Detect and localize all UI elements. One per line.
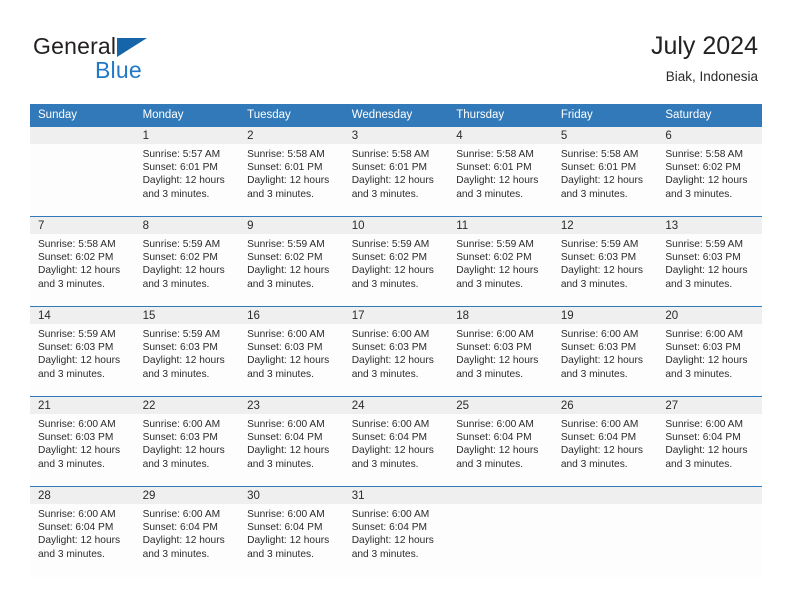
triangle-icon (117, 38, 147, 57)
day-number: 10 (344, 217, 449, 234)
week-row: 14Sunrise: 5:59 AMSunset: 6:03 PMDayligh… (30, 307, 762, 397)
sunrise-text: Sunrise: 5:58 AM (456, 148, 547, 161)
day-details: Sunrise: 6:00 AMSunset: 6:04 PMDaylight:… (344, 504, 449, 561)
day-number: 13 (657, 217, 762, 234)
day-number: 17 (344, 307, 449, 324)
daylight-text: Daylight: 12 hours (143, 444, 234, 457)
day-cell[interactable]: 25Sunrise: 6:00 AMSunset: 6:04 PMDayligh… (448, 397, 553, 487)
daylight-text: Daylight: 12 hours (561, 174, 652, 187)
day-details: Sunrise: 5:58 AMSunset: 6:02 PMDaylight:… (30, 234, 135, 291)
day-number: 7 (30, 217, 135, 234)
day-details: Sunrise: 5:59 AMSunset: 6:03 PMDaylight:… (553, 234, 658, 291)
day-number: 28 (30, 487, 135, 504)
sunset-text: Sunset: 6:03 PM (247, 341, 338, 354)
day-cell[interactable]: 14Sunrise: 5:59 AMSunset: 6:03 PMDayligh… (30, 307, 135, 397)
sunset-text: Sunset: 6:03 PM (561, 251, 652, 264)
daylight-text: and 3 minutes. (352, 278, 443, 291)
day-number: 29 (135, 487, 240, 504)
logo-word-blue: Blue (95, 57, 142, 84)
daylight-text: Daylight: 12 hours (247, 444, 338, 457)
day-number (553, 487, 658, 504)
day-details: Sunrise: 5:59 AMSunset: 6:03 PMDaylight:… (657, 234, 762, 291)
day-details: Sunrise: 6:00 AMSunset: 6:04 PMDaylight:… (30, 504, 135, 561)
sunrise-text: Sunrise: 5:59 AM (247, 238, 338, 251)
daylight-text: Daylight: 12 hours (352, 534, 443, 547)
sunrise-text: Sunrise: 5:58 AM (352, 148, 443, 161)
sunrise-text: Sunrise: 6:00 AM (352, 328, 443, 341)
daylight-text: Daylight: 12 hours (38, 444, 129, 457)
daylight-text: Daylight: 12 hours (456, 174, 547, 187)
daylight-text: and 3 minutes. (561, 368, 652, 381)
sunset-text: Sunset: 6:04 PM (38, 521, 129, 534)
sunrise-text: Sunrise: 5:58 AM (665, 148, 756, 161)
day-cell[interactable]: 13Sunrise: 5:59 AMSunset: 6:03 PMDayligh… (657, 217, 762, 307)
daylight-text: Daylight: 12 hours (561, 354, 652, 367)
sunrise-text: Sunrise: 5:59 AM (143, 328, 234, 341)
day-cell[interactable]: 29Sunrise: 6:00 AMSunset: 6:04 PMDayligh… (135, 487, 240, 577)
location-subtitle: Biak, Indonesia (651, 67, 758, 87)
sunrise-text: Sunrise: 6:00 AM (247, 328, 338, 341)
day-cell[interactable]: 19Sunrise: 6:00 AMSunset: 6:03 PMDayligh… (553, 307, 658, 397)
day-details: Sunrise: 6:00 AMSunset: 6:04 PMDaylight:… (239, 414, 344, 471)
weekday-header-wednesday: Wednesday (344, 104, 449, 127)
daylight-text: Daylight: 12 hours (247, 264, 338, 277)
day-cell[interactable]: 2Sunrise: 5:58 AMSunset: 6:01 PMDaylight… (239, 127, 344, 217)
daylight-text: and 3 minutes. (247, 458, 338, 471)
daylight-text: Daylight: 12 hours (665, 174, 756, 187)
day-details: Sunrise: 5:59 AMSunset: 6:02 PMDaylight:… (344, 234, 449, 291)
weekday-header-tuesday: Tuesday (239, 104, 344, 127)
sunset-text: Sunset: 6:02 PM (38, 251, 129, 264)
day-cell[interactable]: 7Sunrise: 5:58 AMSunset: 6:02 PMDaylight… (30, 217, 135, 307)
logo-word-general: General (33, 33, 116, 59)
daylight-text: Daylight: 12 hours (456, 354, 547, 367)
sunrise-text: Sunrise: 6:00 AM (352, 508, 443, 521)
sunrise-text: Sunrise: 5:58 AM (247, 148, 338, 161)
calendar-header-row: SundayMondayTuesdayWednesdayThursdayFrid… (30, 104, 762, 127)
daylight-text: and 3 minutes. (665, 368, 756, 381)
page-title: July 2024 (651, 30, 758, 62)
sunrise-text: Sunrise: 5:59 AM (38, 328, 129, 341)
day-cell[interactable]: 11Sunrise: 5:59 AMSunset: 6:02 PMDayligh… (448, 217, 553, 307)
calendar-table: SundayMondayTuesdayWednesdayThursdayFrid… (30, 104, 762, 577)
sunset-text: Sunset: 6:03 PM (143, 431, 234, 444)
sunset-text: Sunset: 6:04 PM (561, 431, 652, 444)
calendar-body: 1Sunrise: 5:57 AMSunset: 6:01 PMDaylight… (30, 127, 762, 577)
sunrise-text: Sunrise: 6:00 AM (247, 418, 338, 431)
daylight-text: Daylight: 12 hours (38, 534, 129, 547)
sunrise-text: Sunrise: 5:57 AM (143, 148, 234, 161)
calendar-page: General Blue July 2024 Biak, Indonesia S… (0, 0, 792, 612)
daylight-text: and 3 minutes. (247, 188, 338, 201)
sunrise-text: Sunrise: 5:59 AM (352, 238, 443, 251)
sunset-text: Sunset: 6:03 PM (143, 341, 234, 354)
sunrise-text: Sunrise: 6:00 AM (561, 328, 652, 341)
week-row: 28Sunrise: 6:00 AMSunset: 6:04 PMDayligh… (30, 487, 762, 577)
day-details: Sunrise: 5:58 AMSunset: 6:01 PMDaylight:… (553, 144, 658, 201)
sunrise-text: Sunrise: 5:59 AM (456, 238, 547, 251)
day-details: Sunrise: 6:00 AMSunset: 6:04 PMDaylight:… (553, 414, 658, 471)
sunrise-text: Sunrise: 6:00 AM (38, 418, 129, 431)
page-header: General Blue July 2024 Biak, Indonesia (0, 0, 792, 104)
day-details: Sunrise: 6:00 AMSunset: 6:04 PMDaylight:… (239, 504, 344, 561)
weekday-header-friday: Friday (553, 104, 658, 127)
sunset-text: Sunset: 6:03 PM (456, 341, 547, 354)
day-number: 24 (344, 397, 449, 414)
weekday-labels: SundayMondayTuesdayWednesdayThursdayFrid… (30, 104, 762, 127)
day-cell-empty (657, 487, 762, 577)
day-number: 25 (448, 397, 553, 414)
sunset-text: Sunset: 6:02 PM (143, 251, 234, 264)
daylight-text: and 3 minutes. (561, 278, 652, 291)
day-cell-empty (448, 487, 553, 577)
day-details: Sunrise: 6:00 AMSunset: 6:04 PMDaylight:… (135, 504, 240, 561)
sunrise-text: Sunrise: 6:00 AM (352, 418, 443, 431)
daylight-text: and 3 minutes. (38, 548, 129, 561)
daylight-text: and 3 minutes. (352, 188, 443, 201)
sunset-text: Sunset: 6:02 PM (247, 251, 338, 264)
daylight-text: and 3 minutes. (665, 278, 756, 291)
day-details: Sunrise: 5:57 AMSunset: 6:01 PMDaylight:… (135, 144, 240, 201)
sunset-text: Sunset: 6:01 PM (561, 161, 652, 174)
daylight-text: Daylight: 12 hours (665, 354, 756, 367)
sunset-text: Sunset: 6:03 PM (665, 251, 756, 264)
daylight-text: and 3 minutes. (665, 458, 756, 471)
day-cell[interactable]: 26Sunrise: 6:00 AMSunset: 6:04 PMDayligh… (553, 397, 658, 487)
sunset-text: Sunset: 6:01 PM (456, 161, 547, 174)
daylight-text: Daylight: 12 hours (352, 354, 443, 367)
sunrise-text: Sunrise: 6:00 AM (143, 508, 234, 521)
day-cell[interactable]: 17Sunrise: 6:00 AMSunset: 6:03 PMDayligh… (344, 307, 449, 397)
day-number: 15 (135, 307, 240, 324)
weekday-header-monday: Monday (135, 104, 240, 127)
daylight-text: and 3 minutes. (561, 188, 652, 201)
day-details: Sunrise: 5:58 AMSunset: 6:01 PMDaylight:… (239, 144, 344, 201)
day-cell[interactable]: 18Sunrise: 6:00 AMSunset: 6:03 PMDayligh… (448, 307, 553, 397)
day-cell[interactable]: 5Sunrise: 5:58 AMSunset: 6:01 PMDaylight… (553, 127, 658, 217)
day-details: Sunrise: 5:59 AMSunset: 6:02 PMDaylight:… (448, 234, 553, 291)
day-number: 3 (344, 127, 449, 144)
daylight-text: and 3 minutes. (665, 188, 756, 201)
week-row: 1Sunrise: 5:57 AMSunset: 6:01 PMDaylight… (30, 127, 762, 217)
daylight-text: and 3 minutes. (143, 548, 234, 561)
daylight-text: Daylight: 12 hours (456, 444, 547, 457)
daylight-text: Daylight: 12 hours (143, 354, 234, 367)
sunrise-text: Sunrise: 6:00 AM (456, 328, 547, 341)
daylight-text: Daylight: 12 hours (38, 264, 129, 277)
day-details: Sunrise: 5:59 AMSunset: 6:03 PMDaylight:… (30, 324, 135, 381)
day-cell[interactable]: 9Sunrise: 5:59 AMSunset: 6:02 PMDaylight… (239, 217, 344, 307)
day-number: 19 (553, 307, 658, 324)
daylight-text: Daylight: 12 hours (352, 444, 443, 457)
day-cell[interactable]: 15Sunrise: 5:59 AMSunset: 6:03 PMDayligh… (135, 307, 240, 397)
daylight-text: Daylight: 12 hours (247, 174, 338, 187)
sunset-text: Sunset: 6:01 PM (247, 161, 338, 174)
day-cell[interactable]: 28Sunrise: 6:00 AMSunset: 6:04 PMDayligh… (30, 487, 135, 577)
day-cell[interactable]: 21Sunrise: 6:00 AMSunset: 6:03 PMDayligh… (30, 397, 135, 487)
day-number (448, 487, 553, 504)
daylight-text: and 3 minutes. (352, 458, 443, 471)
sunset-text: Sunset: 6:04 PM (352, 431, 443, 444)
day-number: 11 (448, 217, 553, 234)
sunset-text: Sunset: 6:04 PM (456, 431, 547, 444)
daylight-text: Daylight: 12 hours (247, 534, 338, 547)
day-number: 14 (30, 307, 135, 324)
day-number: 12 (553, 217, 658, 234)
day-number: 9 (239, 217, 344, 234)
sunset-text: Sunset: 6:02 PM (456, 251, 547, 264)
sunset-text: Sunset: 6:03 PM (665, 341, 756, 354)
day-details: Sunrise: 5:59 AMSunset: 6:02 PMDaylight:… (135, 234, 240, 291)
sunset-text: Sunset: 6:02 PM (352, 251, 443, 264)
day-cell[interactable]: 31Sunrise: 6:00 AMSunset: 6:04 PMDayligh… (344, 487, 449, 577)
sunrise-text: Sunrise: 5:59 AM (143, 238, 234, 251)
day-number: 27 (657, 397, 762, 414)
week-row: 7Sunrise: 5:58 AMSunset: 6:02 PMDaylight… (30, 217, 762, 307)
day-cell[interactable]: 24Sunrise: 6:00 AMSunset: 6:04 PMDayligh… (344, 397, 449, 487)
sunset-text: Sunset: 6:03 PM (352, 341, 443, 354)
weekday-header-saturday: Saturday (657, 104, 762, 127)
sunset-text: Sunset: 6:03 PM (561, 341, 652, 354)
daylight-text: and 3 minutes. (247, 548, 338, 561)
day-number: 20 (657, 307, 762, 324)
weekday-header-thursday: Thursday (448, 104, 553, 127)
sunset-text: Sunset: 6:01 PM (352, 161, 443, 174)
sunset-text: Sunset: 6:04 PM (143, 521, 234, 534)
sunrise-text: Sunrise: 6:00 AM (247, 508, 338, 521)
day-cell[interactable]: 6Sunrise: 5:58 AMSunset: 6:02 PMDaylight… (657, 127, 762, 217)
sunset-text: Sunset: 6:03 PM (38, 431, 129, 444)
day-details: Sunrise: 5:58 AMSunset: 6:01 PMDaylight:… (448, 144, 553, 201)
daylight-text: Daylight: 12 hours (352, 264, 443, 277)
sunrise-text: Sunrise: 5:59 AM (665, 238, 756, 251)
day-cell[interactable]: 8Sunrise: 5:59 AMSunset: 6:02 PMDaylight… (135, 217, 240, 307)
week-row: 21Sunrise: 6:00 AMSunset: 6:03 PMDayligh… (30, 397, 762, 487)
day-details: Sunrise: 6:00 AMSunset: 6:03 PMDaylight:… (30, 414, 135, 471)
day-number: 18 (448, 307, 553, 324)
daylight-text: Daylight: 12 hours (247, 354, 338, 367)
daylight-text: and 3 minutes. (456, 458, 547, 471)
day-details: Sunrise: 6:00 AMSunset: 6:03 PMDaylight:… (239, 324, 344, 381)
daylight-text: and 3 minutes. (456, 278, 547, 291)
daylight-text: and 3 minutes. (143, 278, 234, 291)
day-cell-empty (553, 487, 658, 577)
day-cell[interactable]: 16Sunrise: 6:00 AMSunset: 6:03 PMDayligh… (239, 307, 344, 397)
sunrise-text: Sunrise: 6:00 AM (38, 508, 129, 521)
day-number (657, 487, 762, 504)
day-number: 30 (239, 487, 344, 504)
day-number: 8 (135, 217, 240, 234)
day-number: 1 (135, 127, 240, 144)
day-details: Sunrise: 5:59 AMSunset: 6:02 PMDaylight:… (239, 234, 344, 291)
day-number: 16 (239, 307, 344, 324)
day-cell[interactable]: 27Sunrise: 6:00 AMSunset: 6:04 PMDayligh… (657, 397, 762, 487)
sunrise-text: Sunrise: 6:00 AM (665, 328, 756, 341)
day-details: Sunrise: 6:00 AMSunset: 6:03 PMDaylight:… (553, 324, 658, 381)
daylight-text: Daylight: 12 hours (561, 444, 652, 457)
day-cell[interactable]: 23Sunrise: 6:00 AMSunset: 6:04 PMDayligh… (239, 397, 344, 487)
daylight-text: and 3 minutes. (38, 278, 129, 291)
daylight-text: Daylight: 12 hours (143, 174, 234, 187)
sunrise-text: Sunrise: 5:59 AM (561, 238, 652, 251)
daylight-text: Daylight: 12 hours (561, 264, 652, 277)
daylight-text: and 3 minutes. (247, 368, 338, 381)
sunset-text: Sunset: 6:04 PM (247, 521, 338, 534)
sunrise-text: Sunrise: 5:58 AM (38, 238, 129, 251)
sunset-text: Sunset: 6:04 PM (352, 521, 443, 534)
sunset-text: Sunset: 6:02 PM (665, 161, 756, 174)
sunrise-text: Sunrise: 6:00 AM (143, 418, 234, 431)
day-number: 5 (553, 127, 658, 144)
daylight-text: and 3 minutes. (561, 458, 652, 471)
day-number: 2 (239, 127, 344, 144)
day-cell-empty (30, 127, 135, 217)
daylight-text: Daylight: 12 hours (143, 264, 234, 277)
day-number: 21 (30, 397, 135, 414)
day-details: Sunrise: 6:00 AMSunset: 6:04 PMDaylight:… (448, 414, 553, 471)
daylight-text: Daylight: 12 hours (665, 444, 756, 457)
day-number (30, 127, 135, 144)
daylight-text: Daylight: 12 hours (665, 264, 756, 277)
general-blue-logo[interactable]: General Blue (33, 33, 213, 89)
daylight-text: Daylight: 12 hours (38, 354, 129, 367)
day-cell[interactable]: 20Sunrise: 6:00 AMSunset: 6:03 PMDayligh… (657, 307, 762, 397)
sunrise-text: Sunrise: 5:58 AM (561, 148, 652, 161)
day-details: Sunrise: 6:00 AMSunset: 6:03 PMDaylight:… (344, 324, 449, 381)
daylight-text: and 3 minutes. (456, 368, 547, 381)
day-details: Sunrise: 6:00 AMSunset: 6:04 PMDaylight:… (344, 414, 449, 471)
day-number: 4 (448, 127, 553, 144)
logo-top-row: General (33, 33, 213, 59)
day-cell[interactable]: 22Sunrise: 6:00 AMSunset: 6:03 PMDayligh… (135, 397, 240, 487)
daylight-text: and 3 minutes. (38, 458, 129, 471)
day-details: Sunrise: 5:59 AMSunset: 6:03 PMDaylight:… (135, 324, 240, 381)
day-details: Sunrise: 6:00 AMSunset: 6:03 PMDaylight:… (657, 324, 762, 381)
day-number: 22 (135, 397, 240, 414)
sunset-text: Sunset: 6:04 PM (247, 431, 338, 444)
day-details: Sunrise: 6:00 AMSunset: 6:03 PMDaylight:… (135, 414, 240, 471)
weekday-header-sunday: Sunday (30, 104, 135, 127)
day-cell[interactable]: 12Sunrise: 5:59 AMSunset: 6:03 PMDayligh… (553, 217, 658, 307)
daylight-text: Daylight: 12 hours (143, 534, 234, 547)
daylight-text: and 3 minutes. (352, 368, 443, 381)
day-details: Sunrise: 6:00 AMSunset: 6:04 PMDaylight:… (657, 414, 762, 471)
day-cell[interactable]: 30Sunrise: 6:00 AMSunset: 6:04 PMDayligh… (239, 487, 344, 577)
day-cell[interactable]: 10Sunrise: 5:59 AMSunset: 6:02 PMDayligh… (344, 217, 449, 307)
daylight-text: and 3 minutes. (456, 188, 547, 201)
day-number: 26 (553, 397, 658, 414)
sunrise-text: Sunrise: 6:00 AM (456, 418, 547, 431)
title-block: July 2024 Biak, Indonesia (651, 30, 758, 87)
daylight-text: Daylight: 12 hours (456, 264, 547, 277)
daylight-text: and 3 minutes. (247, 278, 338, 291)
day-number: 23 (239, 397, 344, 414)
daylight-text: and 3 minutes. (143, 458, 234, 471)
daylight-text: Daylight: 12 hours (352, 174, 443, 187)
daylight-text: and 3 minutes. (38, 368, 129, 381)
day-details: Sunrise: 5:58 AMSunset: 6:02 PMDaylight:… (657, 144, 762, 201)
daylight-text: and 3 minutes. (352, 548, 443, 561)
day-details: Sunrise: 5:58 AMSunset: 6:01 PMDaylight:… (344, 144, 449, 201)
sunset-text: Sunset: 6:04 PM (665, 431, 756, 444)
day-number: 6 (657, 127, 762, 144)
sunrise-text: Sunrise: 6:00 AM (665, 418, 756, 431)
day-details: Sunrise: 6:00 AMSunset: 6:03 PMDaylight:… (448, 324, 553, 381)
day-cell[interactable]: 4Sunrise: 5:58 AMSunset: 6:01 PMDaylight… (448, 127, 553, 217)
sunrise-text: Sunrise: 6:00 AM (561, 418, 652, 431)
daylight-text: and 3 minutes. (143, 188, 234, 201)
daylight-text: and 3 minutes. (143, 368, 234, 381)
sunset-text: Sunset: 6:03 PM (38, 341, 129, 354)
sunset-text: Sunset: 6:01 PM (143, 161, 234, 174)
day-cell[interactable]: 3Sunrise: 5:58 AMSunset: 6:01 PMDaylight… (344, 127, 449, 217)
day-number: 31 (344, 487, 449, 504)
day-cell[interactable]: 1Sunrise: 5:57 AMSunset: 6:01 PMDaylight… (135, 127, 240, 217)
